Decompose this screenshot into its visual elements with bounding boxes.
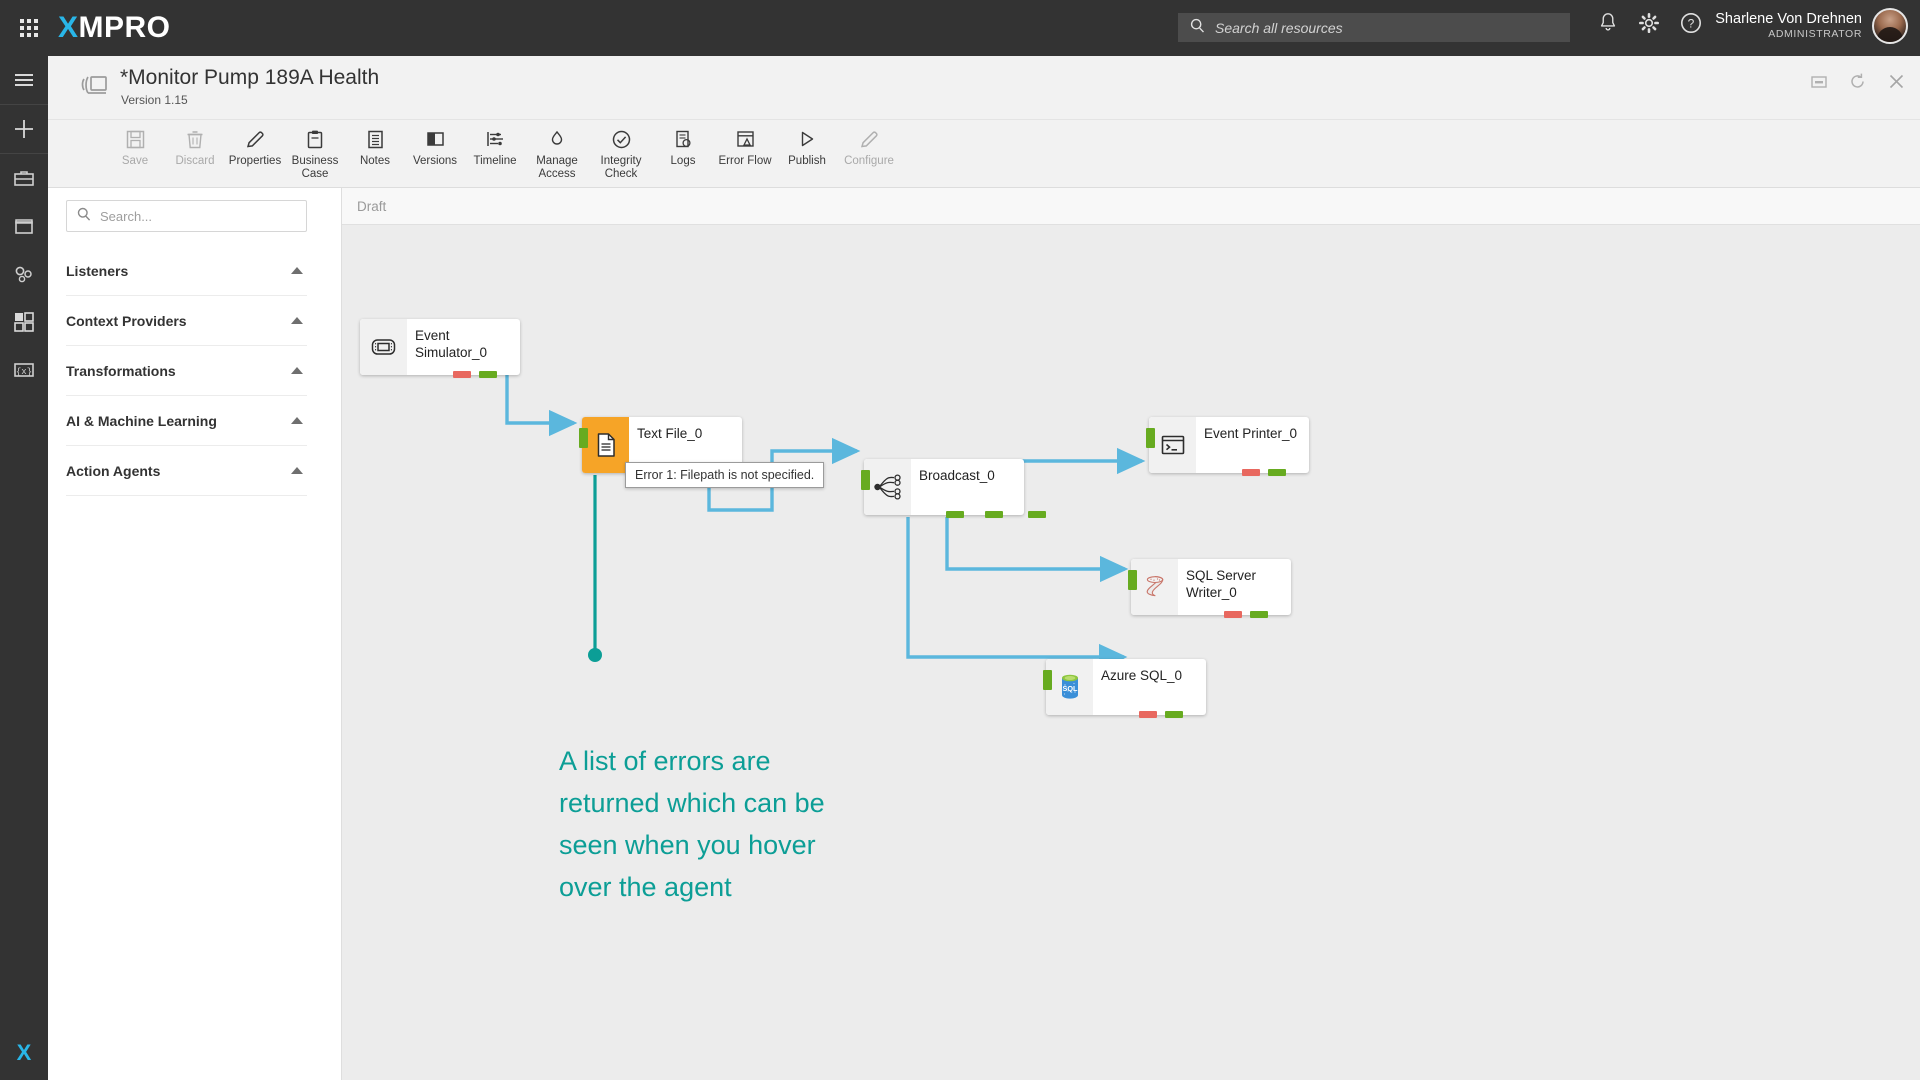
notes-button[interactable]: Notes	[346, 126, 404, 168]
output-port-2[interactable]	[985, 511, 1003, 518]
avatar[interactable]	[1872, 8, 1908, 44]
user-profile[interactable]: Sharlene Von Drehnen ADMINISTRATOR	[1715, 8, 1908, 44]
save-icon	[125, 126, 146, 152]
azure-sql-icon: SQL	[1046, 659, 1093, 715]
node-event-printer[interactable]: Event Printer_0	[1149, 417, 1309, 473]
business-case-label: Business Case	[292, 155, 339, 181]
text-file-icon	[582, 417, 629, 473]
xmpro-footer-logo[interactable]: X	[0, 1040, 48, 1066]
output-port-3[interactable]	[1028, 511, 1046, 518]
logo-x: X	[58, 11, 79, 45]
flow-canvas[interactable]: Event Simulator_0 Text File_0 Error 1: F…	[342, 225, 1920, 1080]
node-title: Broadcast_0	[919, 467, 1018, 484]
category-label: Transformations	[66, 363, 176, 379]
output-port-1[interactable]	[946, 511, 964, 518]
flow-canvas-area: Draft	[342, 188, 1920, 1080]
agent-palette-panel: Listeners Context Providers Transformati…	[48, 188, 342, 1080]
node-sql-server-writer[interactable]: SQL Server Writer_0	[1131, 559, 1291, 615]
timeline-button[interactable]: Timeline	[466, 126, 524, 168]
bell-icon[interactable]	[1597, 11, 1619, 40]
error-tooltip: Error 1: Filepath is not specified.	[625, 462, 824, 488]
properties-button[interactable]: Properties	[226, 126, 284, 168]
refresh-button[interactable]	[1848, 72, 1867, 96]
broadcast-icon	[864, 459, 911, 515]
gears-icon[interactable]	[0, 250, 48, 298]
pencil-icon	[245, 126, 266, 152]
left-icon-rail: {x} X	[0, 56, 48, 1080]
window-controls	[1810, 72, 1906, 96]
palette-search-input[interactable]	[100, 209, 290, 224]
node-broadcast[interactable]: Broadcast_0	[864, 459, 1024, 515]
error-flow-label: Error Flow	[718, 155, 771, 168]
publish-label: Publish	[788, 155, 826, 168]
output-port-success[interactable]	[479, 371, 497, 378]
category-label: Listeners	[66, 263, 128, 279]
properties-label: Properties	[229, 155, 281, 168]
app-grid-icon[interactable]	[0, 19, 58, 37]
category-label: Context Providers	[66, 313, 187, 329]
node-title: Event Printer_0	[1204, 425, 1303, 442]
add-icon[interactable]	[0, 105, 48, 153]
palette-category-ai-machine-learning[interactable]: AI & Machine Learning	[66, 396, 307, 446]
output-port-success[interactable]	[1250, 611, 1268, 618]
discard-label: Discard	[176, 155, 215, 168]
manage-access-button[interactable]: Manage Access	[526, 126, 588, 181]
versions-icon	[425, 126, 446, 152]
shield-icon	[547, 126, 567, 152]
xmpro-logo: XMPRO	[58, 11, 171, 45]
notes-icon	[366, 126, 385, 152]
logs-label: Logs	[671, 155, 696, 168]
output-port-success[interactable]	[1165, 711, 1183, 718]
node-event-simulator[interactable]: Event Simulator_0	[360, 319, 520, 375]
output-port-error[interactable]	[1242, 469, 1260, 476]
chevron-up-icon	[291, 317, 303, 324]
document-version: Version 1.15	[121, 93, 188, 107]
error-flow-icon	[735, 126, 756, 152]
save-label: Save	[122, 155, 148, 168]
output-port-error[interactable]	[453, 371, 471, 378]
input-port[interactable]	[861, 470, 870, 490]
search-icon	[77, 207, 91, 226]
user-name: Sharlene Von Drehnen	[1715, 11, 1862, 28]
category-label: AI & Machine Learning	[66, 413, 217, 429]
error-flow-button[interactable]: Error Flow	[714, 126, 776, 168]
palette-category-transformations[interactable]: Transformations	[66, 346, 307, 396]
node-azure-sql[interactable]: SQL Azure SQL_0	[1046, 659, 1206, 715]
connection-wires	[342, 225, 1920, 1080]
category-label: Action Agents	[66, 463, 160, 479]
blocks-icon[interactable]	[0, 298, 48, 346]
chevron-up-icon	[291, 467, 303, 474]
versions-button[interactable]: Versions	[406, 126, 464, 168]
annotation-leader-dot	[588, 648, 602, 662]
input-port[interactable]	[1043, 670, 1052, 690]
integrity-check-label: Integrity Check	[601, 155, 642, 181]
configure-button[interactable]: Configure	[838, 126, 900, 168]
palette-category-listeners[interactable]: Listeners	[66, 246, 307, 296]
global-search[interactable]	[1178, 13, 1570, 42]
close-button[interactable]	[1887, 72, 1906, 96]
chevron-up-icon	[291, 267, 303, 274]
output-port-error[interactable]	[1224, 611, 1242, 618]
versions-label: Versions	[413, 155, 457, 168]
node-title: SQL Server Writer_0	[1186, 567, 1285, 601]
clipboard-icon	[305, 126, 325, 152]
discard-button[interactable]: Discard	[166, 126, 224, 168]
chevron-up-icon	[291, 417, 303, 424]
save-button[interactable]: Save	[106, 126, 164, 168]
chevron-up-icon	[291, 367, 303, 374]
draft-status-bar: Draft	[342, 188, 1920, 225]
page-title: *Monitor Pump 189A Health	[120, 66, 379, 90]
document-toolbar: Save Discard Properties Business Case No…	[48, 120, 1920, 188]
output-port-success[interactable]	[1268, 469, 1286, 476]
brackets-icon[interactable]: {x}	[0, 346, 48, 394]
notes-label: Notes	[360, 155, 390, 168]
svg-text:{x}: {x}	[16, 367, 32, 377]
document-header: *Monitor Pump 189A Health Version 1.15	[48, 56, 1920, 120]
top-navigation-bar: XMPRO ? Sharlene Von Drehnen ADMINISTRAT…	[0, 0, 1920, 56]
archive-box-icon[interactable]	[0, 202, 48, 250]
play-icon	[797, 126, 817, 152]
palette-category-action-agents[interactable]: Action Agents	[66, 446, 307, 496]
canvas-annotation: A list of errors are returned which can …	[559, 740, 825, 908]
briefcase-icon[interactable]	[0, 154, 48, 202]
input-port[interactable]	[579, 428, 588, 448]
node-title: Text File_0	[637, 425, 736, 442]
hamburger-menu-icon[interactable]	[0, 56, 48, 104]
configure-label: Configure	[844, 155, 894, 168]
svg-text:SQL: SQL	[1062, 684, 1078, 693]
search-icon	[1190, 18, 1205, 38]
sql-server-icon	[1131, 559, 1178, 615]
input-port[interactable]	[1146, 428, 1155, 448]
palette-search[interactable]	[66, 200, 307, 232]
timeline-label: Timeline	[473, 155, 516, 168]
integrity-check-button[interactable]: Integrity Check	[590, 126, 652, 181]
logs-icon	[673, 126, 693, 152]
check-circle-icon	[611, 126, 632, 152]
user-role: ADMINISTRATOR	[1715, 28, 1862, 41]
palette-category-context-providers[interactable]: Context Providers	[66, 296, 307, 346]
logs-button[interactable]: Logs	[654, 126, 712, 168]
manage-access-label: Manage Access	[536, 155, 578, 181]
timeline-icon	[485, 126, 506, 152]
gear-icon[interactable]	[1637, 11, 1661, 40]
input-port[interactable]	[1128, 570, 1137, 590]
terminal-icon	[1149, 417, 1196, 473]
pump-icon	[78, 68, 112, 107]
minimize-button[interactable]	[1810, 73, 1828, 96]
help-icon[interactable]: ?	[1679, 11, 1703, 40]
output-port-error[interactable]	[1139, 711, 1157, 718]
search-input[interactable]	[1215, 20, 1545, 36]
trash-icon	[185, 126, 205, 152]
logo-text: MPRO	[79, 11, 171, 45]
configure-pencil-icon	[859, 126, 880, 152]
status-badge: Draft	[357, 199, 386, 214]
svg-text:?: ?	[1688, 17, 1695, 31]
publish-button[interactable]: Publish	[778, 126, 836, 168]
event-simulator-icon	[360, 319, 407, 375]
business-case-button[interactable]: Business Case	[286, 126, 344, 181]
node-title: Azure SQL_0	[1101, 667, 1200, 684]
node-title: Event Simulator_0	[415, 327, 514, 361]
